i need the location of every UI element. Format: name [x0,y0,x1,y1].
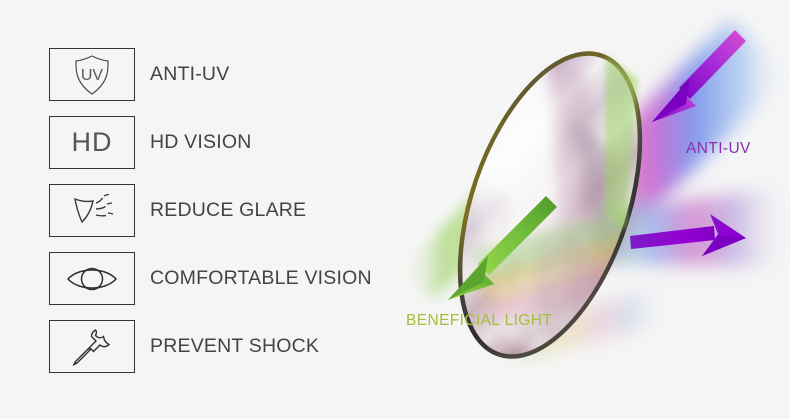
uv-shield-label: UV [81,67,104,84]
uv-shield-icon: UV [69,53,115,97]
icon-box-hd-vision: HD [49,116,135,169]
icon-box-anti-uv: UV [49,48,135,101]
hammer-icon [69,326,115,368]
feature-label-comfortable-vision: COMFORTABLE VISION [150,267,372,290]
ray-label-anti-uv: ANTI-UV [686,140,751,158]
glare-reduction-icon [68,191,116,231]
icon-box-reduce-glare [49,184,135,237]
feature-row-anti-uv: UV ANTI-UV [49,47,389,102]
feature-row-comfortable-vision: COMFORTABLE VISION [49,251,389,306]
lens-illustration-svg [390,0,790,419]
feature-row-reduce-glare: REDUCE GLARE [49,183,389,238]
feature-label-hd-vision: HD VISION [150,131,251,154]
ray-label-beneficial-light: BENEFICIAL LIGHT [406,312,552,330]
feature-row-hd-vision: HD HD VISION [49,115,389,170]
icon-box-prevent-shock [49,320,135,373]
feature-label-anti-uv: ANTI-UV [150,63,229,86]
eye-icon [65,263,119,295]
hd-text-icon: HD [72,127,113,158]
icon-box-comfortable-vision [49,252,135,305]
feature-label-prevent-shock: PREVENT SHOCK [150,335,319,358]
feature-label-reduce-glare: REDUCE GLARE [150,199,306,222]
feature-row-prevent-shock: PREVENT SHOCK [49,319,389,374]
feature-list: UV ANTI-UV HD HD VISION REDUCE GLARE [49,47,389,387]
lens-illustration: ANTI-UV BENEFICIAL LIGHT [390,0,790,419]
